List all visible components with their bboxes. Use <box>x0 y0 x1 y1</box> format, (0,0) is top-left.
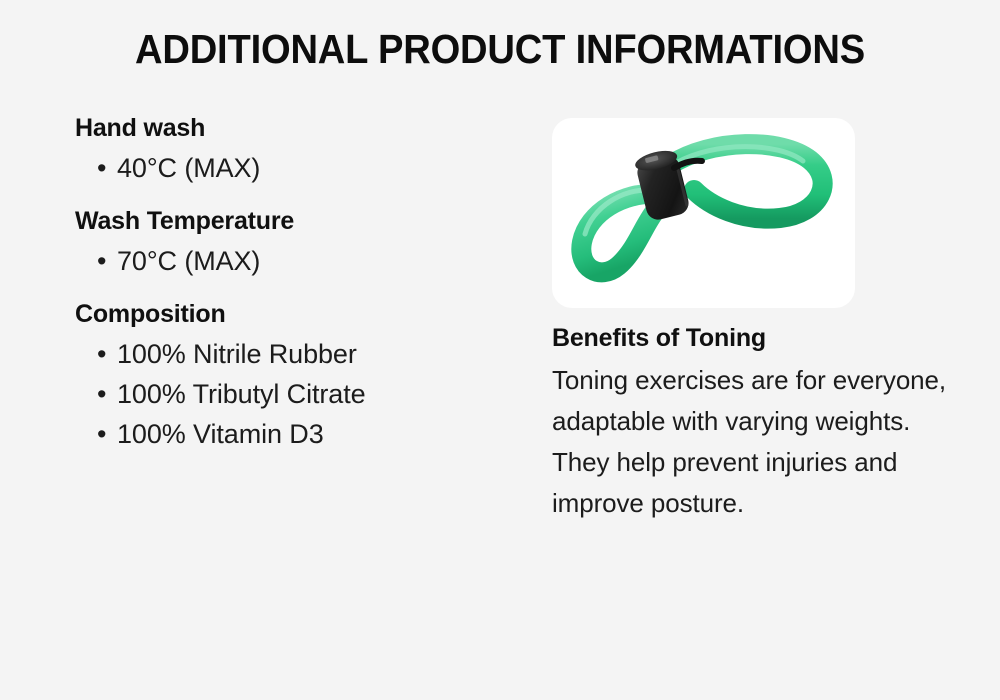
spec-list: • 70°C (MAX) <box>75 241 515 281</box>
benefits-heading: Benefits of Toning <box>552 322 954 354</box>
spec-heading: Wash Temperature <box>75 205 515 237</box>
spec-list: • 40°C (MAX) <box>75 148 515 188</box>
bullet-icon: • <box>97 148 106 188</box>
spec-heading: Hand wash <box>75 112 515 144</box>
spec-item-label: 40°C (MAX) <box>117 153 260 183</box>
tube-left-loop <box>581 194 656 272</box>
specifications-column: Hand wash • 40°C (MAX) Wash Temperature … <box>75 112 515 454</box>
spec-list-item: • 70°C (MAX) <box>75 241 515 281</box>
spec-heading: Composition <box>75 298 515 330</box>
spec-list-item: • 100% Tributyl Citrate <box>75 374 515 414</box>
spec-list: • 100% Nitrile Rubber • 100% Tributyl Ci… <box>75 334 515 454</box>
spec-group-hand-wash: Hand wash • 40°C (MAX) <box>75 112 515 188</box>
bullet-icon: • <box>97 241 106 281</box>
spec-item-label: 100% Vitamin D3 <box>117 419 324 449</box>
spec-group-wash-temperature: Wash Temperature • 70°C (MAX) <box>75 205 515 281</box>
toning-exerciser-image <box>552 118 855 308</box>
spec-list-item: • 100% Vitamin D3 <box>75 414 515 454</box>
spec-group-composition: Composition • 100% Nitrile Rubber • 100%… <box>75 298 515 454</box>
spec-item-label: 70°C (MAX) <box>117 246 260 276</box>
product-image-card <box>552 118 855 308</box>
spec-item-label: 100% Tributyl Citrate <box>117 379 366 409</box>
bullet-icon: • <box>97 334 106 374</box>
product-info-page: ADDITIONAL PRODUCT INFORMATIONS Hand was… <box>0 0 1000 700</box>
spec-item-label: 100% Nitrile Rubber <box>117 339 357 369</box>
page-title: ADDITIONAL PRODUCT INFORMATIONS <box>35 24 965 74</box>
benefits-body-text: Toning exercises are for everyone, adapt… <box>552 360 954 524</box>
spec-list-item: • 100% Nitrile Rubber <box>75 334 515 374</box>
bullet-icon: • <box>97 374 106 414</box>
product-image-column <box>552 118 952 308</box>
spec-list-item: • 40°C (MAX) <box>75 148 515 188</box>
benefits-section: Benefits of Toning Toning exercises are … <box>552 322 954 524</box>
bullet-icon: • <box>97 414 106 454</box>
